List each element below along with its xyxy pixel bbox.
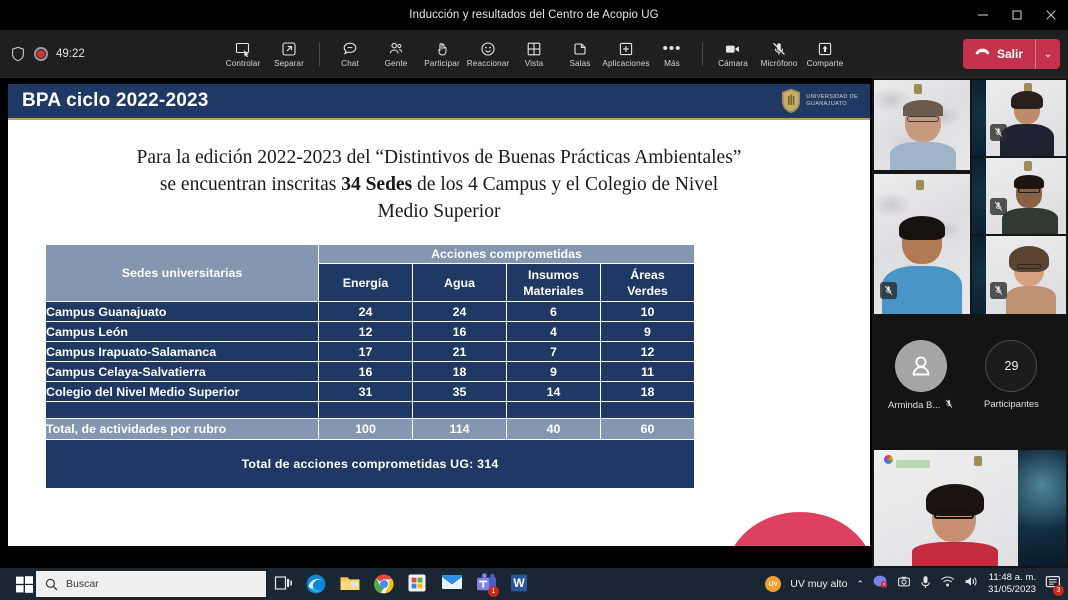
grid-view-icon (526, 40, 542, 57)
table-row-header: Sedes universitarias (46, 245, 318, 301)
toolbar-buttons: Controlar Separar Chat Gente (0, 30, 1068, 78)
row-value: 21 (413, 342, 506, 361)
background-logo (1024, 161, 1032, 171)
file-explorer-icon[interactable] (339, 573, 361, 595)
meeting-toolbar: 49:22 Controlar Separar Chat (0, 30, 1068, 78)
table-column-header-agua: Agua (413, 264, 506, 301)
video-tile-6[interactable] (874, 450, 1066, 566)
toolbar-divider (702, 42, 703, 66)
paragraph-line-3: Medio Superior (48, 198, 830, 225)
table-group-header: Acciones comprometidas (319, 245, 694, 263)
leave-main-area[interactable]: Salir (963, 39, 1035, 69)
toolbar-button-microfono[interactable]: Micrófono (756, 31, 802, 77)
toolbar-button-salas[interactable]: Salas (557, 31, 603, 77)
leave-meeting-button[interactable]: Salir ⌄ (963, 39, 1060, 69)
participants-label: Participantes (984, 399, 1039, 410)
toolbar-label: Aplicaciones (602, 59, 649, 68)
row-value: 24 (413, 302, 506, 321)
ug-shield-icon (781, 88, 801, 114)
total-value: 40 (507, 419, 600, 439)
row-value: 31 (319, 382, 412, 401)
toolbar-label: Participar (424, 59, 460, 68)
toolbar-button-comparte[interactable]: Comparte (802, 31, 848, 77)
microphone-muted-icon (771, 40, 787, 57)
avatar-name: Arminda B... (888, 400, 940, 411)
table-header-row-1: Sedes universitarias Acciones comprometi… (46, 245, 694, 263)
apps-plus-icon (618, 40, 634, 57)
weather-label[interactable]: UV muy alto (790, 578, 847, 590)
toolbar-label: Separar (274, 59, 304, 68)
table-column-header-insumos: Insumos Materiales (507, 264, 600, 301)
control-screen-icon (235, 40, 251, 57)
chat-icon (342, 40, 358, 57)
toolbar-button-camara[interactable]: Cámara (710, 31, 756, 77)
row-value: 11 (601, 362, 694, 381)
slide-paragraph: Para la edición 2022-2023 del “Distintiv… (48, 144, 830, 225)
row-value: 14 (507, 382, 600, 401)
paragraph-highlight: 34 Sedes (341, 174, 412, 195)
windows-taskbar: Buscar (0, 568, 1068, 600)
col-head-line2: Materiales (507, 283, 600, 299)
paragraph-line-2a: se encuentran inscritas (160, 174, 341, 195)
video-tile-2[interactable] (972, 80, 1066, 156)
participant-avatar-cell[interactable]: Arminda B... (888, 340, 953, 412)
teams-tray-icon[interactable]: × (873, 575, 888, 593)
glasses (907, 116, 939, 122)
toolbar-label: Vista (525, 59, 544, 68)
avatar-row: Arminda B... 29 Participantes (872, 318, 1068, 448)
slide-title: BPA ciclo 2022-2023 (22, 90, 209, 112)
col-head-line1: Insumos (507, 267, 600, 283)
video-tile-4[interactable] (972, 236, 1066, 314)
close-button[interactable] (1034, 0, 1068, 30)
microsoft-store-icon[interactable] (407, 573, 429, 595)
table-total-row: Total, de actividades por rubro 100 114 … (46, 419, 694, 439)
org-logo-icon (884, 455, 893, 464)
row-label: Colegio del Nivel Medio Superior (46, 382, 318, 401)
table-row: Campus León 12 16 4 9 (46, 322, 694, 341)
microsoft-teams-icon[interactable]: 1 (475, 573, 497, 595)
total-value: 114 (413, 419, 506, 439)
microphone-muted-icon (880, 282, 897, 299)
background-logo (916, 180, 924, 190)
clock-time: 11:48 a. m. (988, 572, 1036, 584)
notifications-icon[interactable]: 3 (1045, 574, 1062, 594)
taskbar-app-buttons: 1 W (305, 571, 531, 597)
notifications-badge: 3 (1053, 585, 1064, 596)
glasses (1017, 264, 1041, 269)
poster-background (1018, 450, 1066, 566)
toolbar-button-aplicaciones[interactable]: Aplicaciones (603, 31, 649, 77)
minimize-button[interactable] (966, 0, 1000, 30)
toolbar-label: Comparte (807, 59, 844, 68)
toolbar-button-gente[interactable]: Gente (373, 31, 419, 77)
table-row: Campus Irapuato-Salamanca 17 21 7 12 (46, 342, 694, 361)
slide-header: BPA ciclo 2022-2023 UNIVERSIDAD DE GUANA… (8, 84, 870, 120)
col-head-line2: Verdes (601, 283, 694, 299)
volume-icon[interactable] (964, 575, 979, 593)
university-logo-text: UNIVERSIDAD DE GUANAJUATO (806, 94, 858, 108)
microphone-muted-icon (945, 399, 953, 412)
microphone-muted-icon (990, 282, 1007, 299)
row-value: 10 (601, 302, 694, 321)
window-title-bar: Inducción y resultados del Centro de Aco… (0, 0, 1068, 30)
toolbar-label: Cámara (718, 59, 748, 68)
clock-date: 31/05/2023 (988, 584, 1036, 596)
network-icon[interactable] (940, 575, 955, 593)
camera-tray-icon[interactable] (897, 575, 911, 593)
glasses (934, 510, 974, 519)
paragraph-line-1: Para la edición 2022-2023 del “Distintiv… (48, 144, 830, 171)
shared-content-stage: BPA ciclo 2022-2023 UNIVERSIDAD DE GUANA… (0, 78, 872, 568)
toolbar-label: Reaccionar (467, 59, 509, 68)
video-tile-5[interactable] (874, 174, 970, 314)
video-tile-3[interactable] (972, 158, 1066, 234)
row-value: 6 (507, 302, 600, 321)
more-ellipsis-icon: ••• (663, 40, 682, 57)
grand-total: Total de acciones comprometidas UG: 314 (46, 440, 694, 488)
toolbar-button-participar[interactable]: Participar (419, 31, 465, 77)
row-value: 12 (601, 342, 694, 361)
logo-line-1: UNIVERSIDAD DE (806, 94, 858, 101)
toolbar-divider (319, 42, 320, 66)
teams-badge: 1 (488, 586, 499, 597)
table-row: Campus Guanajuato 24 24 6 10 (46, 302, 694, 321)
toolbar-button-controlar[interactable]: Controlar (220, 31, 266, 77)
share-screen-icon (817, 40, 833, 57)
microphone-tray-icon[interactable] (920, 575, 931, 594)
participants-count: 29 (985, 340, 1037, 392)
row-value: 17 (319, 342, 412, 361)
toolbar-button-chat[interactable]: Chat (327, 31, 373, 77)
total-value: 100 (319, 419, 412, 439)
breakout-rooms-icon (572, 40, 588, 57)
search-placeholder: Buscar (66, 578, 99, 590)
search-input[interactable]: Buscar (36, 571, 266, 597)
row-value: 35 (413, 382, 506, 401)
row-value: 18 (413, 362, 506, 381)
leave-label: Salir (997, 47, 1023, 61)
university-logo: UNIVERSIDAD DE GUANAJUATO (781, 88, 858, 114)
row-value: 7 (507, 342, 600, 361)
raise-hand-icon (434, 40, 450, 57)
row-value: 9 (507, 362, 600, 381)
toolbar-label: Más (664, 59, 680, 68)
row-value: 16 (413, 322, 506, 341)
toolbar-label: Chat (341, 59, 359, 68)
table-column-header-energia: Energía (319, 264, 412, 301)
participants-rail: Arminda B... 29 Participantes (872, 78, 1068, 568)
search-icon (45, 578, 58, 591)
background-logo (914, 84, 922, 94)
task-view-icon[interactable] (272, 574, 294, 594)
paragraph-line-2: se encuentran inscritas 34 Sedes de los … (48, 171, 830, 198)
hang-up-icon (974, 45, 991, 63)
edge-icon[interactable] (305, 573, 327, 595)
system-tray: UV UV muy alto ⌃ × 11:48 a. m. 31/05/202… (765, 568, 1062, 600)
actions-table: Sedes universitarias Acciones comprometi… (45, 244, 695, 489)
svg-text:W: W (513, 576, 525, 590)
window-controls (966, 0, 1068, 30)
laser-pointer-blob (726, 512, 870, 546)
row-value: 9 (601, 322, 694, 341)
paragraph-line-2c: de los 4 Campus y el Colegio de Nivel (412, 174, 718, 195)
row-value: 4 (507, 322, 600, 341)
total-value: 60 (601, 419, 694, 439)
tray-expand-chevron[interactable]: ⌃ (856, 579, 864, 590)
maximize-button[interactable] (1000, 0, 1034, 30)
avatar (895, 340, 947, 392)
leave-dropdown-caret[interactable]: ⌄ (1036, 39, 1060, 69)
mail-icon[interactable] (441, 573, 463, 595)
table-column-header-areas: Áreas Verdes (601, 264, 694, 301)
table-spacer-row (46, 402, 694, 418)
person-icon (908, 353, 934, 379)
participants-overflow-cell[interactable]: 29 Participantes (984, 340, 1039, 410)
teams-meeting-window: Inducción y resultados del Centro de Aco… (0, 0, 1068, 600)
row-label: Campus Irapuato-Salamanca (46, 342, 318, 361)
toolbar-label: Controlar (226, 59, 261, 68)
row-value: 16 (319, 362, 412, 381)
avatar-label-row: Arminda B... (888, 399, 953, 412)
org-logo-text (896, 460, 930, 468)
microphone-muted-icon (990, 198, 1007, 215)
col-head-line1: Áreas (601, 267, 694, 283)
taskbar-clock[interactable]: 11:48 a. m. 31/05/2023 (988, 572, 1036, 596)
chrome-icon[interactable] (373, 573, 395, 595)
toolbar-label: Micrófono (761, 59, 798, 68)
svg-text:×: × (883, 582, 886, 588)
meeting-title: Inducción y resultados del Centro de Aco… (409, 9, 658, 21)
word-icon[interactable]: W (509, 573, 531, 595)
weather-badge: UV (765, 576, 781, 592)
row-value: 24 (319, 302, 412, 321)
total-label: Total, de actividades por rubro (46, 419, 318, 439)
people-icon (388, 40, 404, 57)
toolbar-label: Salas (570, 59, 591, 68)
video-tile-main[interactable] (874, 80, 970, 170)
row-label: Campus Guanajuato (46, 302, 318, 321)
col-head-line1: Agua (413, 275, 506, 291)
emoji-icon (480, 40, 496, 57)
row-value: 12 (319, 322, 412, 341)
pop-out-icon (281, 40, 297, 57)
col-head-line1: Energía (319, 275, 412, 291)
background-logo (974, 456, 982, 466)
microphone-muted-icon (990, 124, 1007, 141)
row-label: Campus León (46, 322, 318, 341)
presentation-slide: BPA ciclo 2022-2023 UNIVERSIDAD DE GUANA… (8, 84, 870, 546)
toolbar-button-separar[interactable]: Separar (266, 31, 312, 77)
row-value: 18 (601, 382, 694, 401)
glasses (1018, 188, 1040, 193)
row-label: Campus Celaya-Salvatierra (46, 362, 318, 381)
glasses (1016, 104, 1038, 109)
toolbar-button-vista[interactable]: Vista (511, 31, 557, 77)
toolbar-button-mas[interactable]: ••• Más (649, 31, 695, 77)
table-grand-total-row: Total de acciones comprometidas UG: 314 (46, 440, 694, 488)
table-row: Campus Celaya-Salvatierra 16 18 9 11 (46, 362, 694, 381)
logo-line-2: GUANAJUATO (806, 101, 858, 108)
table-row: Colegio del Nivel Medio Superior 31 35 1… (46, 382, 694, 401)
camera-icon (724, 40, 742, 57)
toolbar-button-reaccionar[interactable]: Reaccionar (465, 31, 511, 77)
toolbar-label: Gente (385, 59, 408, 68)
